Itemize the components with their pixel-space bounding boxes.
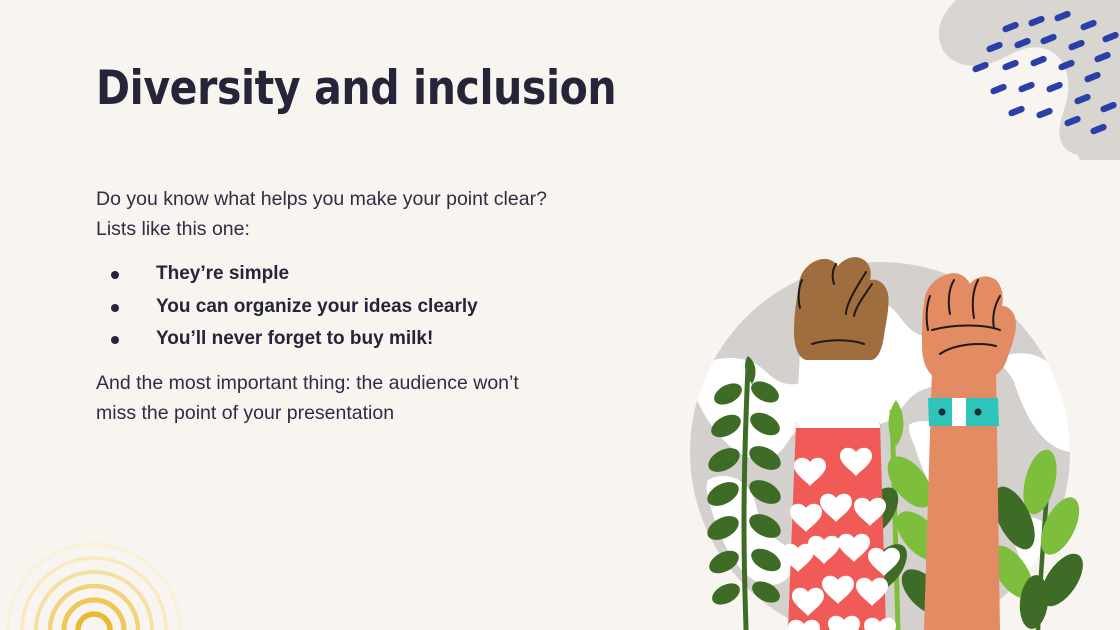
diversity-illustration (648, 250, 1120, 630)
sleeve-white (796, 352, 880, 428)
bracelet-icon (928, 398, 999, 426)
outro-line-1: And the most important thing: the audien… (96, 372, 519, 394)
outro-line-2: miss the point of your presentation (96, 402, 394, 424)
page-title: Diversity and inclusion (96, 62, 639, 116)
gray-blob-icon (939, 0, 1120, 160)
list-item: They’re simple (96, 258, 656, 291)
list-item-label: They’re simple (156, 263, 289, 284)
intro-line-1: Do you know what helps you make your poi… (96, 188, 547, 210)
intro-line-2: Lists like this one: (96, 218, 250, 240)
list-item-label: You can organize your ideas clearly (156, 296, 478, 317)
slide-canvas: Diversity and inclusion Do you know what… (0, 0, 1120, 630)
bottom-left-decoration (0, 500, 210, 630)
list-item: You can organize your ideas clearly (96, 291, 656, 324)
bullet-dot-icon (111, 336, 119, 344)
slide-content: Diversity and inclusion Do you know what… (96, 62, 656, 116)
outro-paragraph: And the most important thing: the audien… (96, 368, 656, 428)
bullet-list: They’re simple You can organize your ide… (96, 258, 656, 356)
fist-right-icon (922, 273, 1016, 378)
concentric-arcs-icon (0, 500, 210, 630)
bullet-dot-icon (111, 271, 119, 279)
blue-dashes-icon (971, 10, 1119, 135)
intro-paragraph: Do you know what helps you make your poi… (96, 184, 656, 244)
bullet-dot-icon (111, 304, 119, 312)
list-item-label: You’ll never forget to buy milk! (156, 328, 433, 349)
top-right-decoration (920, 0, 1120, 160)
list-item: You’ll never forget to buy milk! (96, 323, 656, 356)
